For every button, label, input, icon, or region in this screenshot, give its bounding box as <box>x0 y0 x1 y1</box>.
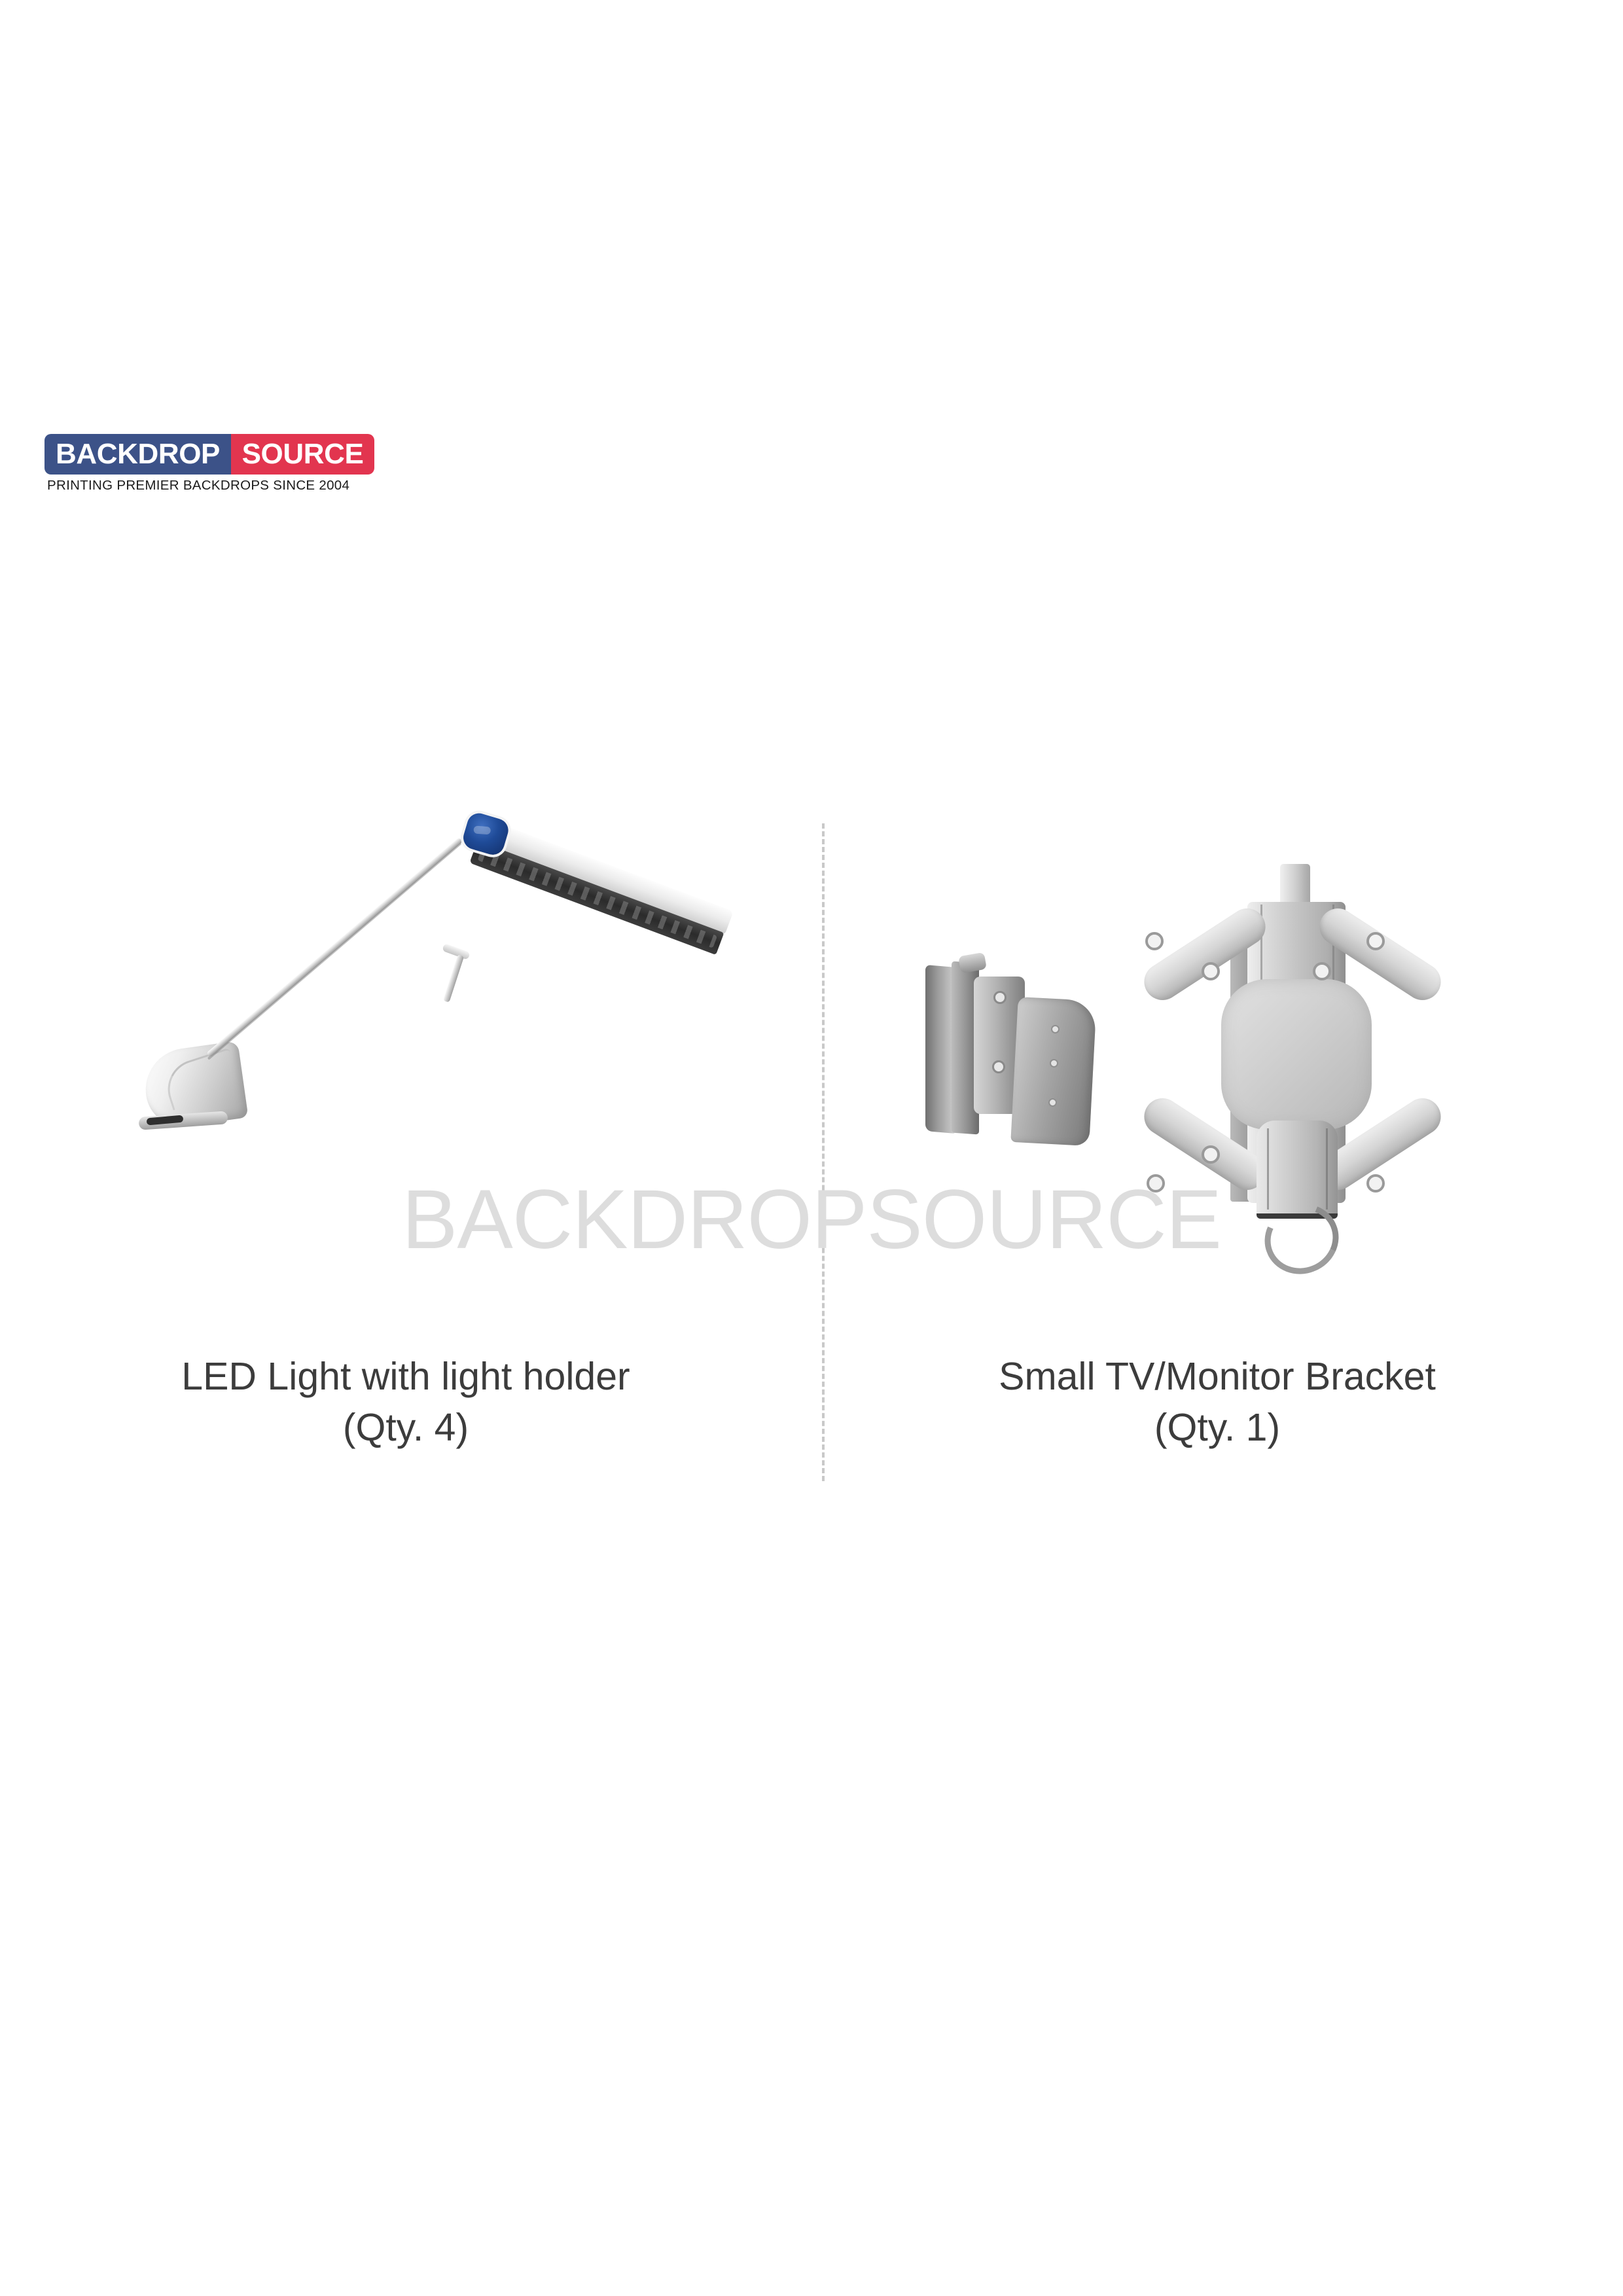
led-arm <box>206 837 463 1058</box>
backdropsource-watermark: BACKDROPSOURCE <box>0 1178 1623 1262</box>
led-head-bar <box>429 804 744 1028</box>
logo-tagline: PRINTING PREMIER BACKDROPS SINCE 2004 <box>45 478 378 493</box>
brand-logo: BACKDROP SOURCE PRINTING PREMIER BACKDRO… <box>45 434 378 493</box>
bracket-wall-mount-part <box>923 962 1119 1158</box>
logo-bar: BACKDROP SOURCE <box>45 434 374 475</box>
logo-word-backdrop: BACKDROP <box>56 440 220 469</box>
logo-word-source: SOURCE <box>242 440 364 469</box>
product-captions: LED Light with light holder (Qty. 4) Sma… <box>0 1352 1623 1454</box>
caption-led-light-title: LED Light with light holder <box>181 1355 630 1398</box>
caption-tv-bracket: Small TV/Monitor Bracket (Qty. 1) <box>811 1352 1623 1454</box>
logo-right-panel: SOURCE <box>231 434 374 475</box>
led-joint <box>443 954 464 1002</box>
caption-tv-bracket-qty: (Qty. 1) <box>811 1403 1623 1454</box>
caption-tv-bracket-title: Small TV/Monitor Bracket <box>999 1355 1436 1398</box>
caption-led-light: LED Light with light holder (Qty. 4) <box>0 1352 811 1454</box>
led-base-clamp-icon <box>134 1041 258 1140</box>
caption-led-light-qty: (Qty. 4) <box>0 1403 811 1454</box>
logo-left-panel: BACKDROP <box>45 434 231 475</box>
